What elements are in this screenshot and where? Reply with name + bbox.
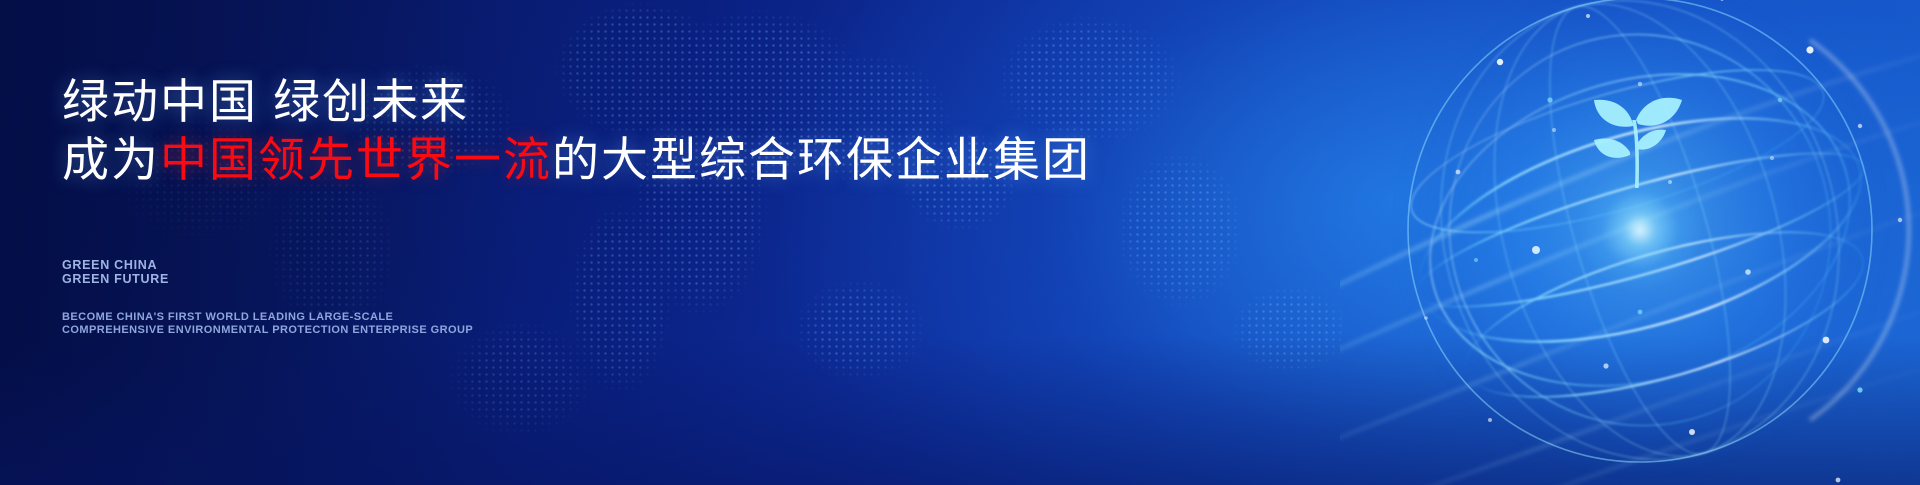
headline-line-2: 成为中国领先世界一流的大型综合环保企业集团	[62, 136, 1091, 183]
headline-line-1: 绿动中国 绿创未来	[62, 78, 469, 125]
banner-copy-block: 绿动中国 绿创未来 成为中国领先世界一流的大型综合环保企业集团 GREEN CH…	[62, 0, 1082, 485]
sprout-leaf-icon	[1578, 70, 1688, 190]
english-caption: GREEN CHINA GREEN FUTURE	[62, 258, 169, 286]
headline-line2-highlight: 中国领先世界一流	[160, 133, 552, 186]
globe-graphic	[1340, 0, 1920, 485]
english-caption-line-2: GREEN FUTURE	[62, 272, 169, 286]
english-tagline-line-2: COMPREHENSIVE ENVIRONMENTAL PROTECTION E…	[62, 324, 473, 337]
english-tagline-line-1: BECOME CHINA'S FIRST WORLD LEADING LARGE…	[62, 311, 473, 324]
headline-line2-suffix: 的大型综合环保企业集团	[552, 133, 1091, 186]
hero-banner: 绿动中国 绿创未来 成为中国领先世界一流的大型综合环保企业集团 GREEN CH…	[0, 0, 1920, 485]
english-tagline: BECOME CHINA'S FIRST WORLD LEADING LARGE…	[62, 311, 473, 337]
headline-line2-prefix: 成为	[62, 133, 160, 186]
english-caption-line-1: GREEN CHINA	[62, 258, 169, 272]
